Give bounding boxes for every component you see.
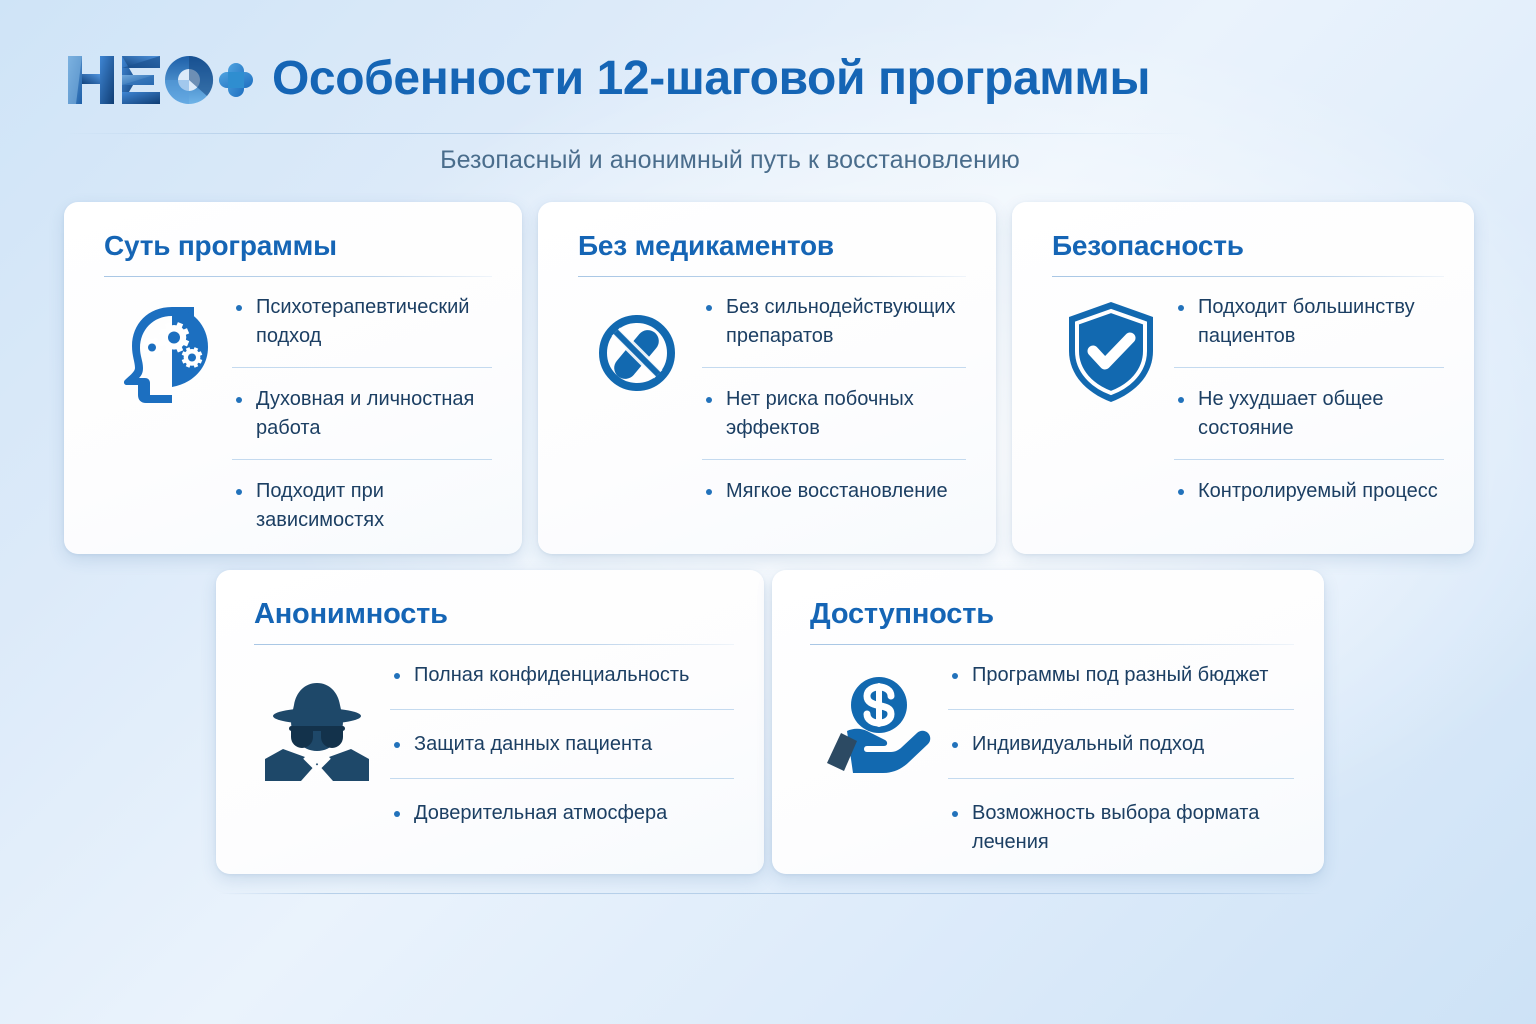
no-pills-icon	[578, 293, 696, 403]
card-body: Программы под разный бюджет Индивидуальн…	[810, 661, 1294, 857]
list-item: Подходит большинству пациентов	[1174, 293, 1444, 351]
list-item: Не ухудшает общее состояние	[1174, 367, 1444, 443]
list-item: Мягкое восстановление	[702, 459, 966, 506]
card-bullet-list: Полная конфиденциальность Защита данных …	[390, 661, 734, 828]
card-title: Анонимность	[254, 596, 734, 632]
list-item: Возможность выбора формата лечения	[948, 778, 1294, 857]
list-item: Без сильнодействующих препаратов	[702, 293, 966, 351]
card-bullet-list: Без сильнодействующих препаратов Нет рис…	[702, 293, 966, 506]
card-bullet-list: Программы под разный бюджет Индивидуальн…	[948, 661, 1294, 857]
list-item: Доверительная атмосфера	[390, 778, 734, 828]
card-title: Суть программы	[104, 228, 492, 264]
card-title: Доступность	[810, 596, 1294, 632]
card-title-divider	[810, 644, 1294, 645]
card-title: Безопасность	[1052, 228, 1444, 264]
list-item: Подходит при зависимостях	[232, 459, 492, 535]
infographic-stage: Особенности 12-шаговой программы Безопас…	[0, 0, 1536, 1024]
header-divider	[64, 133, 1194, 134]
feature-card-anonimnost[interactable]: Анонимность	[216, 570, 764, 874]
card-body: Без сильнодействующих препаратов Нет рис…	[578, 293, 966, 506]
card-title: Без медикаментов	[578, 228, 966, 264]
feature-card-bez-medikamentov[interactable]: Без медикаментов	[538, 202, 996, 554]
shield-check-icon	[1052, 293, 1170, 405]
card-title-divider	[254, 644, 734, 645]
head-gears-icon	[104, 293, 224, 405]
feature-card-dostupnost[interactable]: Доступность Программы под раз	[772, 570, 1324, 874]
neo-plus-logo-icon	[64, 50, 254, 112]
card-title-divider	[1052, 276, 1444, 277]
page-title: Особенности 12-шаговой программы	[272, 48, 1150, 110]
card-title-divider	[104, 276, 492, 277]
card-bullet-list: Подходит большинству пациентов Не ухудша…	[1174, 293, 1444, 506]
list-item: Контролируемый процесс	[1174, 459, 1444, 506]
list-item: Программы под разный бюджет	[948, 661, 1294, 690]
list-item: Полная конфиденциальность	[390, 661, 734, 690]
card-body: Полная конфиденциальность Защита данных …	[254, 661, 734, 828]
card-bullet-list: Психотерапевтический подход Духовная и л…	[232, 293, 492, 535]
list-item: Психотерапевтический подход	[232, 293, 492, 351]
list-item: Духовная и личностная работа	[232, 367, 492, 443]
list-item: Защита данных пациента	[390, 709, 734, 759]
list-item: Нет риска побочных эффектов	[702, 367, 966, 443]
page-subtitle: Безопасный и анонимный путь к восстановл…	[0, 146, 1460, 175]
hand-dollar-coin-icon	[810, 661, 940, 781]
feature-card-bezopasnost[interactable]: Безопасность Подходит большинству пациен…	[1012, 202, 1474, 554]
card-body: Подходит большинству пациентов Не ухудша…	[1052, 293, 1444, 506]
feature-card-sut-programmy[interactable]: Суть программы	[64, 202, 522, 554]
card-title-divider	[578, 276, 966, 277]
page-header: Особенности 12-шаговой программы	[0, 0, 1536, 134]
list-item: Индивидуальный подход	[948, 709, 1294, 759]
footer-divider	[218, 893, 1324, 894]
spy-incognito-icon	[254, 661, 380, 783]
card-body: Психотерапевтический подход Духовная и л…	[104, 293, 492, 535]
